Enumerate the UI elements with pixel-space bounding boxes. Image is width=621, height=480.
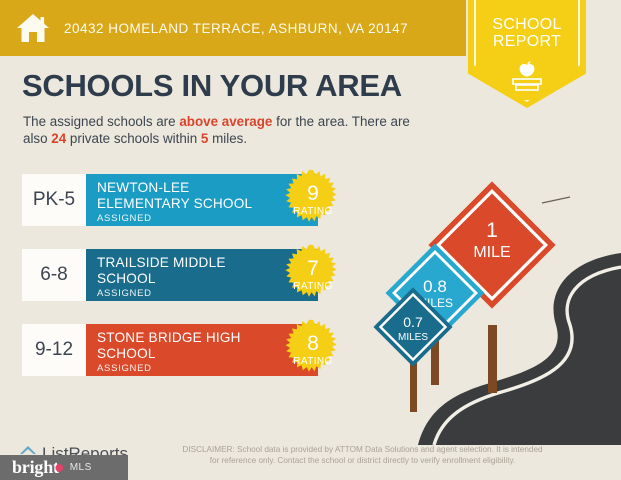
school-rating-badge: 9 RATING: [281, 168, 345, 232]
distance-sign-value: 1: [486, 219, 498, 242]
school-row[interactable]: 9-12 STONE BRIDGE HIGH SCHOOL ASSIGNED: [22, 324, 318, 376]
page-title: SCHOOLS IN YOUR AREA: [22, 68, 402, 104]
school-grades: 6-8: [22, 249, 86, 301]
school-rating-value: 8: [281, 332, 345, 356]
mls-wordmark: MLS: [70, 462, 92, 473]
school-grades: PK-5: [22, 174, 86, 226]
subtitle-highlight-above-average: above average: [179, 114, 272, 129]
school-grades: 9-12: [22, 324, 86, 376]
subtitle-highlight-private-count: 24: [51, 131, 66, 146]
school-row[interactable]: PK-5 NEWTON-LEE ELEMENTARY SCHOOL ASSIGN…: [22, 174, 318, 226]
badge-title: SCHOOL REPORT: [468, 16, 586, 50]
apple-on-books-icon: [468, 58, 586, 97]
distance-sign-value: 0.7: [403, 314, 423, 330]
school-status: ASSIGNED: [97, 288, 308, 299]
home-icon: [16, 12, 50, 44]
bright-dot-icon: ●: [54, 457, 65, 478]
school-status: ASSIGNED: [97, 213, 308, 224]
school-name-line1: TRAILSIDE MIDDLE: [97, 255, 308, 271]
school-status: ASSIGNED: [97, 363, 308, 374]
distance-sign-unit: MILE: [473, 244, 510, 261]
bright-mls-logo: bright ● MLS: [0, 455, 128, 480]
school-name-line2: SCHOOL: [97, 346, 308, 362]
disclaimer-text: DISCLAIMER: School data is provided by A…: [180, 444, 545, 466]
school-rating-value: 7: [281, 257, 345, 281]
distance-sign-unit: MILES: [398, 332, 428, 343]
school-name-line2: ELEMENTARY SCHOOL: [97, 196, 308, 212]
badge-title-line2: REPORT: [468, 33, 586, 50]
road-distance-illustration: 1 MILE 0.8 MILES 0.7: [370, 175, 621, 445]
school-name-line1: NEWTON-LEE: [97, 180, 308, 196]
subtitle-text-3: private schools within: [66, 131, 201, 146]
school-report-infographic: 20432 HOMELAND TERRACE, ASHBURN, VA 2014…: [0, 0, 621, 480]
school-name-line2: SCHOOL: [97, 271, 308, 287]
school-row[interactable]: 6-8 TRAILSIDE MIDDLE SCHOOL ASSIGNED: [22, 249, 318, 301]
school-rating-label: RATING: [281, 206, 345, 217]
school-rating-badge: 8 RATING: [281, 318, 345, 382]
school-report-badge: SCHOOL REPORT: [468, 0, 586, 108]
badge-title-line1: SCHOOL: [468, 16, 586, 33]
school-rating-label: RATING: [281, 281, 345, 292]
school-rating-label: RATING: [281, 356, 345, 367]
subtitle-text-4: miles.: [208, 131, 247, 146]
page-subtitle: The assigned schools are above average f…: [23, 113, 433, 147]
school-rating-value: 9: [281, 182, 345, 206]
wire-line: [542, 197, 570, 203]
school-name-line1: STONE BRIDGE HIGH: [97, 330, 308, 346]
distance-sign-value: 0.8: [423, 277, 447, 296]
header-bar: 20432 HOMELAND TERRACE, ASHBURN, VA 2014…: [0, 0, 466, 56]
bright-wordmark: bright: [12, 457, 59, 478]
property-address: 20432 HOMELAND TERRACE, ASHBURN, VA 2014…: [64, 21, 408, 36]
subtitle-text-1: The assigned schools are: [23, 114, 179, 129]
school-rating-badge: 7 RATING: [281, 243, 345, 307]
